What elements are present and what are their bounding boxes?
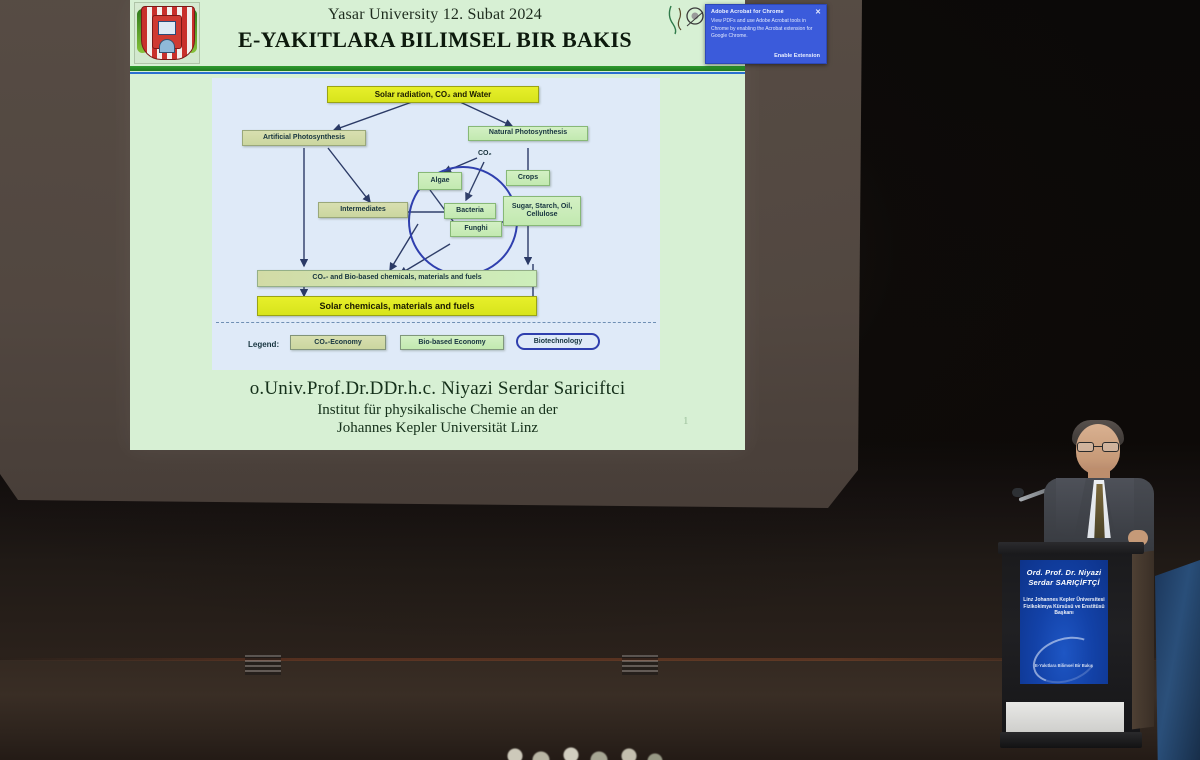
glasses-icon (1076, 442, 1120, 452)
legend-item-co2-economy: CO₂-Economy (290, 335, 386, 350)
node-natural-photosynthesis: Natural Photosynthesis (468, 126, 588, 141)
wall-vent-right-icon (622, 655, 658, 675)
flower-arrangement (495, 742, 685, 760)
slide-subtitle: Yasar University 12. Subat 2024 (200, 6, 670, 24)
node-bacteria: Bacteria (444, 203, 496, 219)
lectern-podium: Ord. Prof. Dr. Niyazi Serdar SARIÇİFTÇİ … (1002, 548, 1140, 748)
node-funghi: Funghi (450, 221, 502, 237)
legend-item-biotechnology: Biotechnology (516, 333, 600, 350)
photosynthesis-diagram: Solar radiation, CO₂ and Water Artificia… (212, 78, 660, 370)
adobe-acrobat-notification[interactable]: Adobe Acrobat for Chrome ✕ View PDFs and… (705, 4, 827, 64)
co2-arrow-label: CO₂ (478, 150, 492, 157)
node-algae: Algae (418, 172, 462, 190)
header-divider-green (130, 66, 745, 71)
node-artificial-photosynthesis: Artificial Photosynthesis (242, 130, 366, 146)
event-swirl-logo-icon (1027, 629, 1103, 684)
speaker-university: Johannes Kepler Universität Linz (130, 420, 745, 437)
podium-affiliation: Linz Johannes Kepler Üniversitesi Fiziko… (1020, 597, 1108, 617)
legend-separator (216, 322, 656, 323)
wall-vent-left-icon (245, 655, 281, 675)
slide-number: 1 (683, 415, 689, 427)
podium-speaker-name: Ord. Prof. Dr. Niyazi Serdar SARIÇİFTÇİ (1020, 568, 1108, 588)
linz-university-coat-of-arms-icon (134, 2, 200, 64)
node-sugar-starch-oil-cellulose: Sugar, Starch, Oil, Cellulose (503, 196, 581, 226)
node-intermediates: Intermediates (318, 202, 408, 218)
slide-title: E-YAKITLARA BILIMSEL BIR BAKIS (200, 27, 670, 53)
stage-curtain (1155, 560, 1200, 760)
podium-name-sign: Ord. Prof. Dr. Niyazi Serdar SARIÇİFTÇİ … (1020, 560, 1108, 684)
node-solar-chemicals: Solar chemicals, materials and fuels (257, 296, 537, 316)
close-icon[interactable]: ✕ (815, 8, 821, 16)
slide-credits: o.Univ.Prof.Dr.DDr.h.c. Niyazi Serdar Sa… (130, 378, 745, 437)
legend-label: Legend: (248, 340, 279, 349)
slide-header: Yasar University 12. Subat 2024 E-YAKITL… (130, 0, 745, 66)
presentation-slide: Yasar University 12. Subat 2024 E-YAKITL… (130, 0, 745, 450)
speaker-institute: Institut für physikalische Chemie an der (130, 402, 745, 419)
podium-event-title: E-Yakıtlara Bilimsel Bir Bakış (1020, 663, 1108, 668)
popup-title: Adobe Acrobat for Chrome (711, 9, 821, 15)
screenshot-root: Yasar University 12. Subat 2024 E-YAKITL… (0, 0, 1200, 760)
legend-item-bio-based-economy: Bio-based Economy (400, 335, 504, 350)
node-crops: Crops (506, 170, 550, 186)
node-co2-and-bio-based-chemicals: CO₂- and Bio-based chemicals, materials … (257, 270, 537, 287)
popup-body: View PDFs and use Adobe Acrobat tools in… (711, 18, 821, 41)
node-solar-radiation: Solar radiation, CO₂ and Water (327, 86, 539, 103)
enable-extension-button[interactable]: Enable Extension (774, 53, 820, 59)
header-divider-blue (130, 72, 745, 74)
speaker-name: o.Univ.Prof.Dr.DDr.h.c. Niyazi Serdar Sa… (130, 378, 745, 400)
